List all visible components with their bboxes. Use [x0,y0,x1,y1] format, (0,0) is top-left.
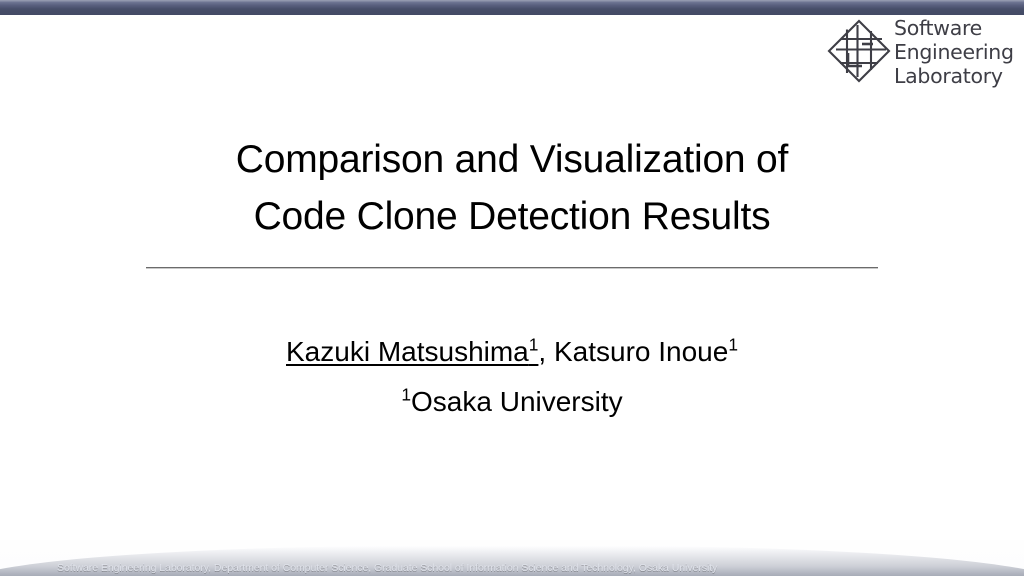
coauthor-name: Katsuro Inoue [554,336,728,367]
sel-logo-wordmark: Software Engineering Laboratory [894,16,1018,88]
sel-logo-line-2: Engineering [894,40,1018,64]
coauthor-affiliation-marker: 1 [728,335,738,355]
presenting-author-name: Kazuki Matsushima [286,336,529,367]
title-divider-rule [146,267,878,269]
affiliation-line: 1Osaka University [120,382,904,422]
presentation-slide: Software Engineering Laboratory Comparis… [0,0,1024,576]
affiliation-name: Osaka University [411,386,623,417]
slide-title: Comparison and Visualization of Code Clo… [120,131,904,245]
footer-text: Software Engineering Laboratory, Departm… [57,562,717,574]
slide-title-line-1: Comparison and Visualization of [120,131,904,188]
sel-diamond-grid-logo-icon [826,18,892,84]
sel-logo: Software Engineering Laboratory [826,16,1018,90]
presenting-author-affiliation-marker: 1 [529,335,539,355]
sel-logo-line-3: Laboratory [894,64,1018,88]
slide-title-line-2: Code Clone Detection Results [120,188,904,245]
author-separator: , [538,336,554,367]
author-line: Kazuki Matsushima1, Katsuro Inoue1 [120,330,904,374]
sel-logo-line-1: Software [894,16,1018,40]
top-accent-highlight [0,0,1024,2]
presenting-author: Kazuki Matsushima1 [286,336,538,367]
top-accent-band [0,0,1024,15]
affiliation-marker: 1 [401,385,411,405]
